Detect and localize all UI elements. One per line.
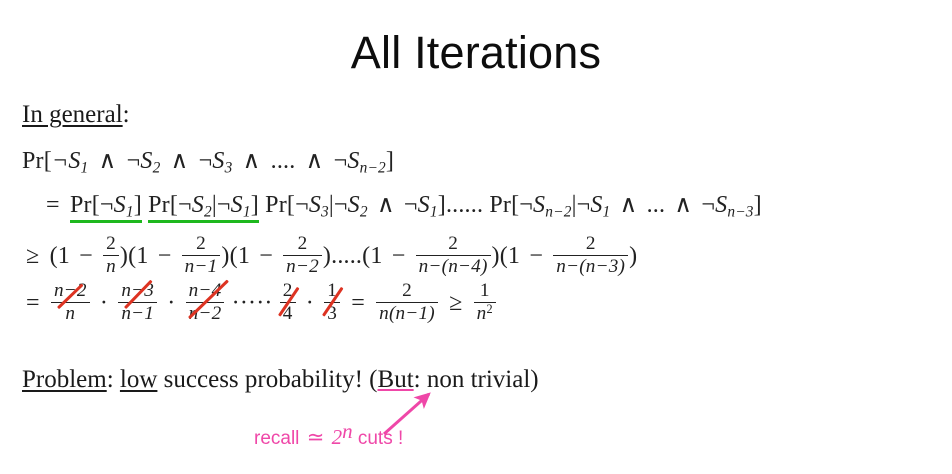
lead-problem-middle: success probability! ( <box>157 366 377 393</box>
math-line-4-fraction-3: n−4n−2 <box>186 281 225 325</box>
pink-annotation-approx: ≃ <box>305 425 327 449</box>
math-line-3-factor-1: (1 − 2n) <box>50 243 129 269</box>
lead-in-general-underlined: In general <box>22 101 123 128</box>
math-line-2-term-4: Pr[¬Sn−2|¬S1 ∧ ... ∧ ¬Sn−3] <box>489 192 761 218</box>
math-line-1-content: Pr[¬S1 ∧ ¬S2 ∧ ¬S3 ∧ .... ∧ ¬Sn−2] <box>22 148 394 174</box>
math-line-4: = n−2n · n−3n−1 · n−4n−2 ····· 24 · 13 =… <box>22 281 497 325</box>
math-line-4-cdot-2: · <box>164 290 178 316</box>
math-line-2-equals: = <box>42 192 64 218</box>
lead-in-general-colon: : <box>123 101 130 128</box>
math-line-4-fraction-4: 24 <box>280 281 296 325</box>
math-line-2-term-2-green: Pr[¬S2|¬S1] <box>148 192 259 219</box>
lead-problem-underlined: Problem <box>22 366 107 393</box>
math-line-4-equals-2: = <box>347 290 369 316</box>
math-line-2: = Pr[¬S1] Pr[¬S2|¬S1] Pr[¬S3|¬S2 ∧ ¬S1].… <box>42 190 762 219</box>
math-line-4-geq: ≥ <box>445 290 466 316</box>
lead-problem: Problem: low success probability! (But: … <box>22 366 539 394</box>
math-line-3-factor-4: (1 − 2n−(n−4)) <box>362 243 500 269</box>
math-line-3-factor-5: (1 − 2n−(n−3)) <box>500 243 638 269</box>
math-line-2-term-3: Pr[¬S3|¬S2 ∧ ¬S1]...... <box>265 192 483 218</box>
pink-annotation: recall ≃ 2n cuts ! <box>254 425 403 450</box>
math-line-4-fraction-1: n−2n <box>51 281 90 325</box>
math-line-4-equals: = <box>22 290 44 316</box>
math-line-3-factor-2: (1 − 2n−1) <box>128 243 230 269</box>
pink-annotation-cuts: cuts ! <box>358 428 403 449</box>
lead-in-general: In general: <box>22 101 130 129</box>
math-line-4-cdot-1: · <box>97 290 111 316</box>
math-line-3: ≥ (1 − 2n)(1 − 2n−1)(1 − 2n−2).....(1 − … <box>22 234 637 278</box>
math-line-4-bound: 1n2 <box>474 281 496 325</box>
pink-annotation-recall: recall <box>254 428 299 449</box>
slide-canvas: All Iterations In general: Pr[¬S1 ∧ ¬S2 … <box>0 0 952 474</box>
math-line-3-geq: ≥ <box>22 243 43 269</box>
math-line-4-dots: ····· <box>232 290 273 316</box>
page-title: All Iterations <box>0 28 952 78</box>
math-line-2-term-1-green: Pr[¬S1] <box>70 192 142 219</box>
math-line-4-cdot-3: · <box>303 290 317 316</box>
math-line-3-factor-3: (1 − 2n−2) <box>230 243 332 269</box>
math-line-4-result: 2n(n−1) <box>376 281 438 325</box>
math-line-3-dots: ..... <box>331 243 362 269</box>
lead-problem-colon: : <box>107 366 114 393</box>
pink-annotation-base: 2 <box>332 425 343 449</box>
math-line-4-fraction-2: n−3n−1 <box>118 281 157 325</box>
math-line-1: Pr[¬S1 ∧ ¬S2 ∧ ¬S3 ∧ .... ∧ ¬Sn−2] <box>22 146 394 175</box>
pink-annotation-exponent: n <box>342 419 353 443</box>
math-line-4-fraction-5: 13 <box>324 281 340 325</box>
lead-problem-low: low <box>120 366 158 393</box>
